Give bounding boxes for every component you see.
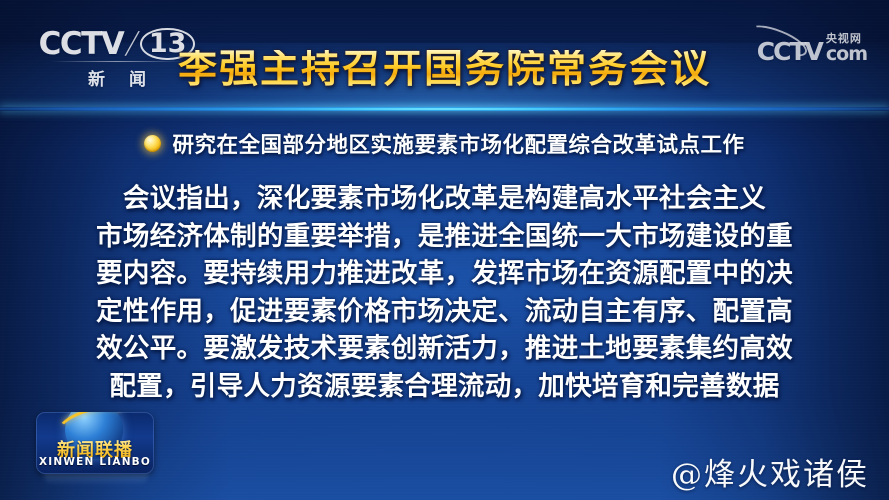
bullet-dot-icon — [144, 135, 161, 152]
body-paragraph: 会议指出，深化要素市场化改革是构建高水平社会主义 市场经济体制的重要举措，是推进… — [0, 180, 889, 405]
body-line: 定性作用，促进要素价格市场决定、流动自主有序、配置高 — [72, 293, 817, 331]
subheadline-row: 研究在全国部分地区实施要素市场化配置综合改革试点工作 — [0, 128, 889, 159]
body-line: 要内容。要持续用力推进改革，发挥市场在资源配置中的决 — [72, 255, 817, 293]
body-line: 会议指出，深化要素市场化改革是构建高水平社会主义 — [72, 180, 817, 218]
page-title: 李强主持召开国务院常务会议 — [0, 50, 889, 89]
body-line: 效公平。要激发技术要素创新活力，推进土地要素集约高效 — [72, 330, 817, 368]
broadcast-screen: CCTV / 13 新 闻 CCTV 央视网 com 李强主持召开国务院常务会议… — [0, 0, 889, 500]
subheadline-text: 研究在全国部分地区实施要素市场化配置综合改革试点工作 — [172, 128, 744, 159]
xinwen-lianbo-logo: 新闻联播 XINWEN LIANBO — [36, 412, 154, 474]
divider-line — [0, 107, 889, 111]
program-logo-en: XINWEN LIANBO — [36, 456, 154, 468]
watermark-text: @烽火戏诸侯 — [671, 449, 869, 494]
body-line: 市场经济体制的重要举措，是推进全国统一大市场建设的重 — [72, 218, 817, 256]
body-line: 配置，引导人力资源要素合理流动，加快培育和完善数据 — [72, 368, 817, 406]
